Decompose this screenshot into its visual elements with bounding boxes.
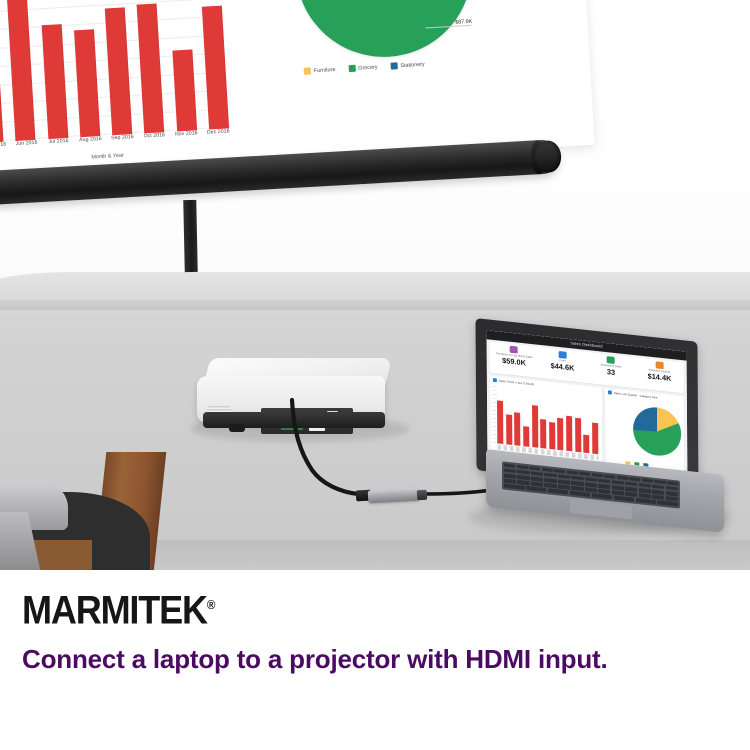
x-tick-label: Sep 2016 xyxy=(109,134,136,150)
key[interactable] xyxy=(504,474,516,479)
key[interactable] xyxy=(558,485,570,490)
registered-trademark-icon: ® xyxy=(207,598,216,612)
key[interactable] xyxy=(598,489,610,494)
pie-icon xyxy=(608,390,612,394)
legend-label: Furniture xyxy=(314,66,336,73)
pie-callout-right: $87.9K xyxy=(455,19,472,26)
trend-bar xyxy=(575,418,581,452)
key[interactable] xyxy=(639,493,651,498)
key[interactable] xyxy=(558,479,570,484)
key[interactable] xyxy=(529,466,540,471)
key[interactable] xyxy=(517,480,529,485)
key[interactable] xyxy=(652,495,664,500)
key[interactable] xyxy=(625,487,637,492)
marmitek-logo: MARMITEK® xyxy=(22,588,215,634)
key[interactable] xyxy=(614,496,635,502)
trend-bar xyxy=(557,418,563,450)
legend-label: Stationery xyxy=(400,61,425,68)
kpi-card[interactable]: Expenses Incurred$14.4K▲ xyxy=(635,357,684,393)
trend-bar xyxy=(549,422,555,450)
bar xyxy=(105,7,133,135)
key[interactable] xyxy=(517,465,528,470)
key[interactable] xyxy=(612,490,624,495)
calendar-icon xyxy=(510,346,518,354)
key[interactable] xyxy=(579,471,590,476)
key[interactable] xyxy=(625,492,637,497)
adapter-usbc-tip xyxy=(417,490,428,501)
tagline: Connect a laptop to a projector with HDM… xyxy=(22,644,608,675)
key[interactable] xyxy=(629,477,640,482)
legend-item: Grocery xyxy=(348,63,378,72)
key[interactable] xyxy=(544,473,556,478)
category-pie-panel-title: Sales Last Quarter - Category wise xyxy=(614,391,658,400)
trend-bar xyxy=(523,426,529,447)
kpi-card[interactable]: Profit$44.6K▲ xyxy=(538,347,587,383)
trend-bar xyxy=(506,415,512,445)
bar xyxy=(172,49,197,131)
projected-pie-chart: 17.7% 56.6% 25.7% $40.0K $87.9K Furnitur… xyxy=(248,0,512,120)
key[interactable] xyxy=(654,479,665,484)
legend-item: Stationery xyxy=(390,61,425,70)
key[interactable] xyxy=(636,498,657,504)
product-photo: May 2016Jun 2016Jul 2016Aug 2016Sep 2016… xyxy=(0,0,750,570)
key[interactable] xyxy=(542,467,553,472)
x-tick-label: Dec 2016 xyxy=(205,128,232,144)
key[interactable] xyxy=(554,469,565,474)
trend-bar xyxy=(497,400,503,444)
key[interactable] xyxy=(652,490,664,495)
key[interactable] xyxy=(544,483,556,488)
key[interactable] xyxy=(612,485,624,490)
chart-icon xyxy=(493,378,497,382)
bar-chart-bars xyxy=(0,0,231,143)
kpi-card[interactable]: This Month vs Last Month Sales$59.0K▲ xyxy=(490,342,539,378)
bar xyxy=(74,30,100,138)
key[interactable] xyxy=(570,491,591,497)
trend-chart-bars xyxy=(497,386,598,454)
bar xyxy=(7,0,36,141)
key[interactable] xyxy=(598,484,610,489)
key[interactable] xyxy=(517,470,529,475)
ceiling-mount-post xyxy=(183,200,198,272)
key[interactable] xyxy=(585,482,597,487)
hdmi-to-usbc-adapter xyxy=(368,488,421,504)
key[interactable] xyxy=(625,482,637,487)
pie-legend: FurnitureGroceryStationery xyxy=(304,61,425,75)
trend-bar xyxy=(583,434,589,453)
key[interactable] xyxy=(571,486,583,491)
bar xyxy=(0,50,3,143)
key[interactable] xyxy=(585,477,597,482)
key[interactable] xyxy=(604,474,615,479)
key[interactable] xyxy=(531,476,543,481)
key[interactable] xyxy=(666,496,678,501)
x-tick-label: Oct 2016 xyxy=(141,132,168,148)
key[interactable] xyxy=(585,487,597,492)
key[interactable] xyxy=(592,493,613,499)
key[interactable] xyxy=(558,474,570,479)
pie-slices xyxy=(291,0,477,62)
key[interactable] xyxy=(567,470,578,475)
bar xyxy=(202,6,229,130)
logo-wordmark: MARMITEK xyxy=(22,588,207,633)
projector-foot xyxy=(229,424,245,432)
x-tick-label: Jun 2016 xyxy=(13,140,40,156)
kpi-card[interactable]: Numbers of Sales33▼ xyxy=(587,352,636,388)
laptop: Sales Dashboard This Month vs Last Month… xyxy=(470,330,730,535)
trend-bar xyxy=(532,405,538,448)
key[interactable] xyxy=(666,486,678,491)
x-tick-label: Nov 2016 xyxy=(173,130,200,146)
key[interactable] xyxy=(504,463,515,468)
x-tick-label: Jul 2016 xyxy=(45,138,72,154)
key[interactable] xyxy=(504,468,516,473)
legend-item: Furniture xyxy=(304,66,336,75)
key[interactable] xyxy=(639,483,651,488)
key[interactable] xyxy=(642,478,653,483)
legend-swatch xyxy=(348,65,355,72)
key[interactable] xyxy=(598,479,610,484)
x-tick-label: Aug 2016 xyxy=(77,136,104,152)
key[interactable] xyxy=(666,491,678,496)
flame-icon xyxy=(655,361,663,369)
key[interactable] xyxy=(612,480,624,485)
key[interactable] xyxy=(504,479,516,484)
key[interactable] xyxy=(639,488,651,493)
bar xyxy=(41,24,68,139)
trend-bar xyxy=(514,413,520,446)
key[interactable] xyxy=(592,473,603,478)
legend-swatch xyxy=(304,67,311,74)
key[interactable] xyxy=(544,478,556,483)
projector xyxy=(197,358,392,436)
legend-swatch xyxy=(390,62,397,69)
key[interactable] xyxy=(571,476,583,481)
key[interactable] xyxy=(652,484,664,489)
desk-edge xyxy=(0,300,750,310)
trend-bar xyxy=(540,419,546,448)
key[interactable] xyxy=(571,481,583,486)
key[interactable] xyxy=(657,501,678,507)
trend-bar xyxy=(592,423,598,454)
sales-trend-panel-title: Sales Trend - Last 12 Month xyxy=(499,379,534,387)
bar xyxy=(137,4,165,134)
marmitek-product-banner: May 2016Jun 2016Jul 2016Aug 2016Sep 2016… xyxy=(0,0,750,750)
legend-label: Grocery xyxy=(358,64,377,71)
bar-icon xyxy=(607,356,615,364)
key[interactable] xyxy=(531,471,543,476)
brand-footer: MARMITEK® Connect a laptop to a projecto… xyxy=(0,570,750,750)
key[interactable] xyxy=(548,489,569,495)
projected-bar-chart: May 2016Jun 2016Jul 2016Aug 2016Sep 2016… xyxy=(0,0,233,171)
key[interactable] xyxy=(531,482,543,487)
key[interactable] xyxy=(526,486,547,492)
key[interactable] xyxy=(504,484,525,490)
category-pie-panel: Sales Last Quarter - Category wise xyxy=(605,388,685,473)
category-pie-slices xyxy=(633,405,681,458)
key[interactable] xyxy=(517,475,529,480)
key[interactable] xyxy=(667,481,678,486)
trend-bar xyxy=(566,416,572,451)
x-tick-label: May 2016 xyxy=(0,142,8,158)
briefcase-icon xyxy=(558,351,566,359)
key[interactable] xyxy=(617,475,628,480)
